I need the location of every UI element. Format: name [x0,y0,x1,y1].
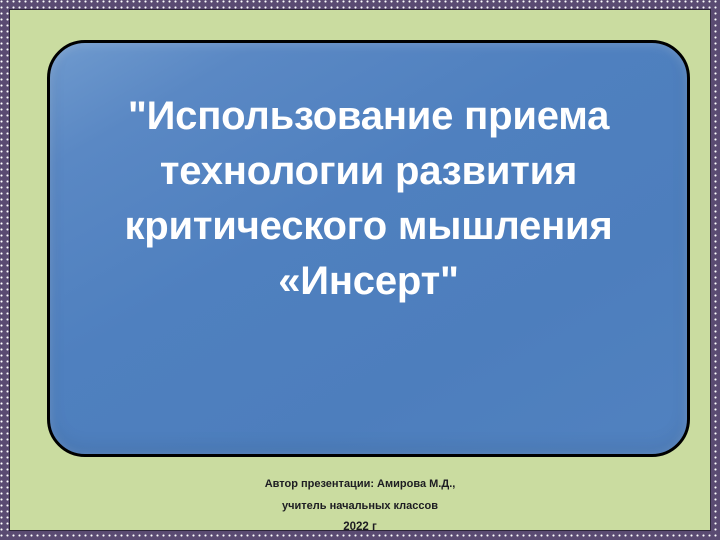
presentation-slide: "Использование приема технологии развити… [0,0,720,540]
title-line-2: технологии развития [50,144,687,199]
credits-block: Автор презентации: Амирова М.Д., учитель… [20,473,700,537]
title-line-3: критического мышления [50,199,687,254]
title-line-4: «Инсерт" [50,254,687,309]
title-plate: "Использование приема технологии развити… [47,40,690,457]
title-line-1: "Использование приема [50,89,687,144]
credit-year: 2022 г [20,517,700,537]
credit-position: учитель начальных классов [20,495,700,517]
slide-canvas: "Использование приема технологии развити… [10,10,710,530]
credit-author: Автор презентации: Амирова М.Д., [20,473,700,495]
